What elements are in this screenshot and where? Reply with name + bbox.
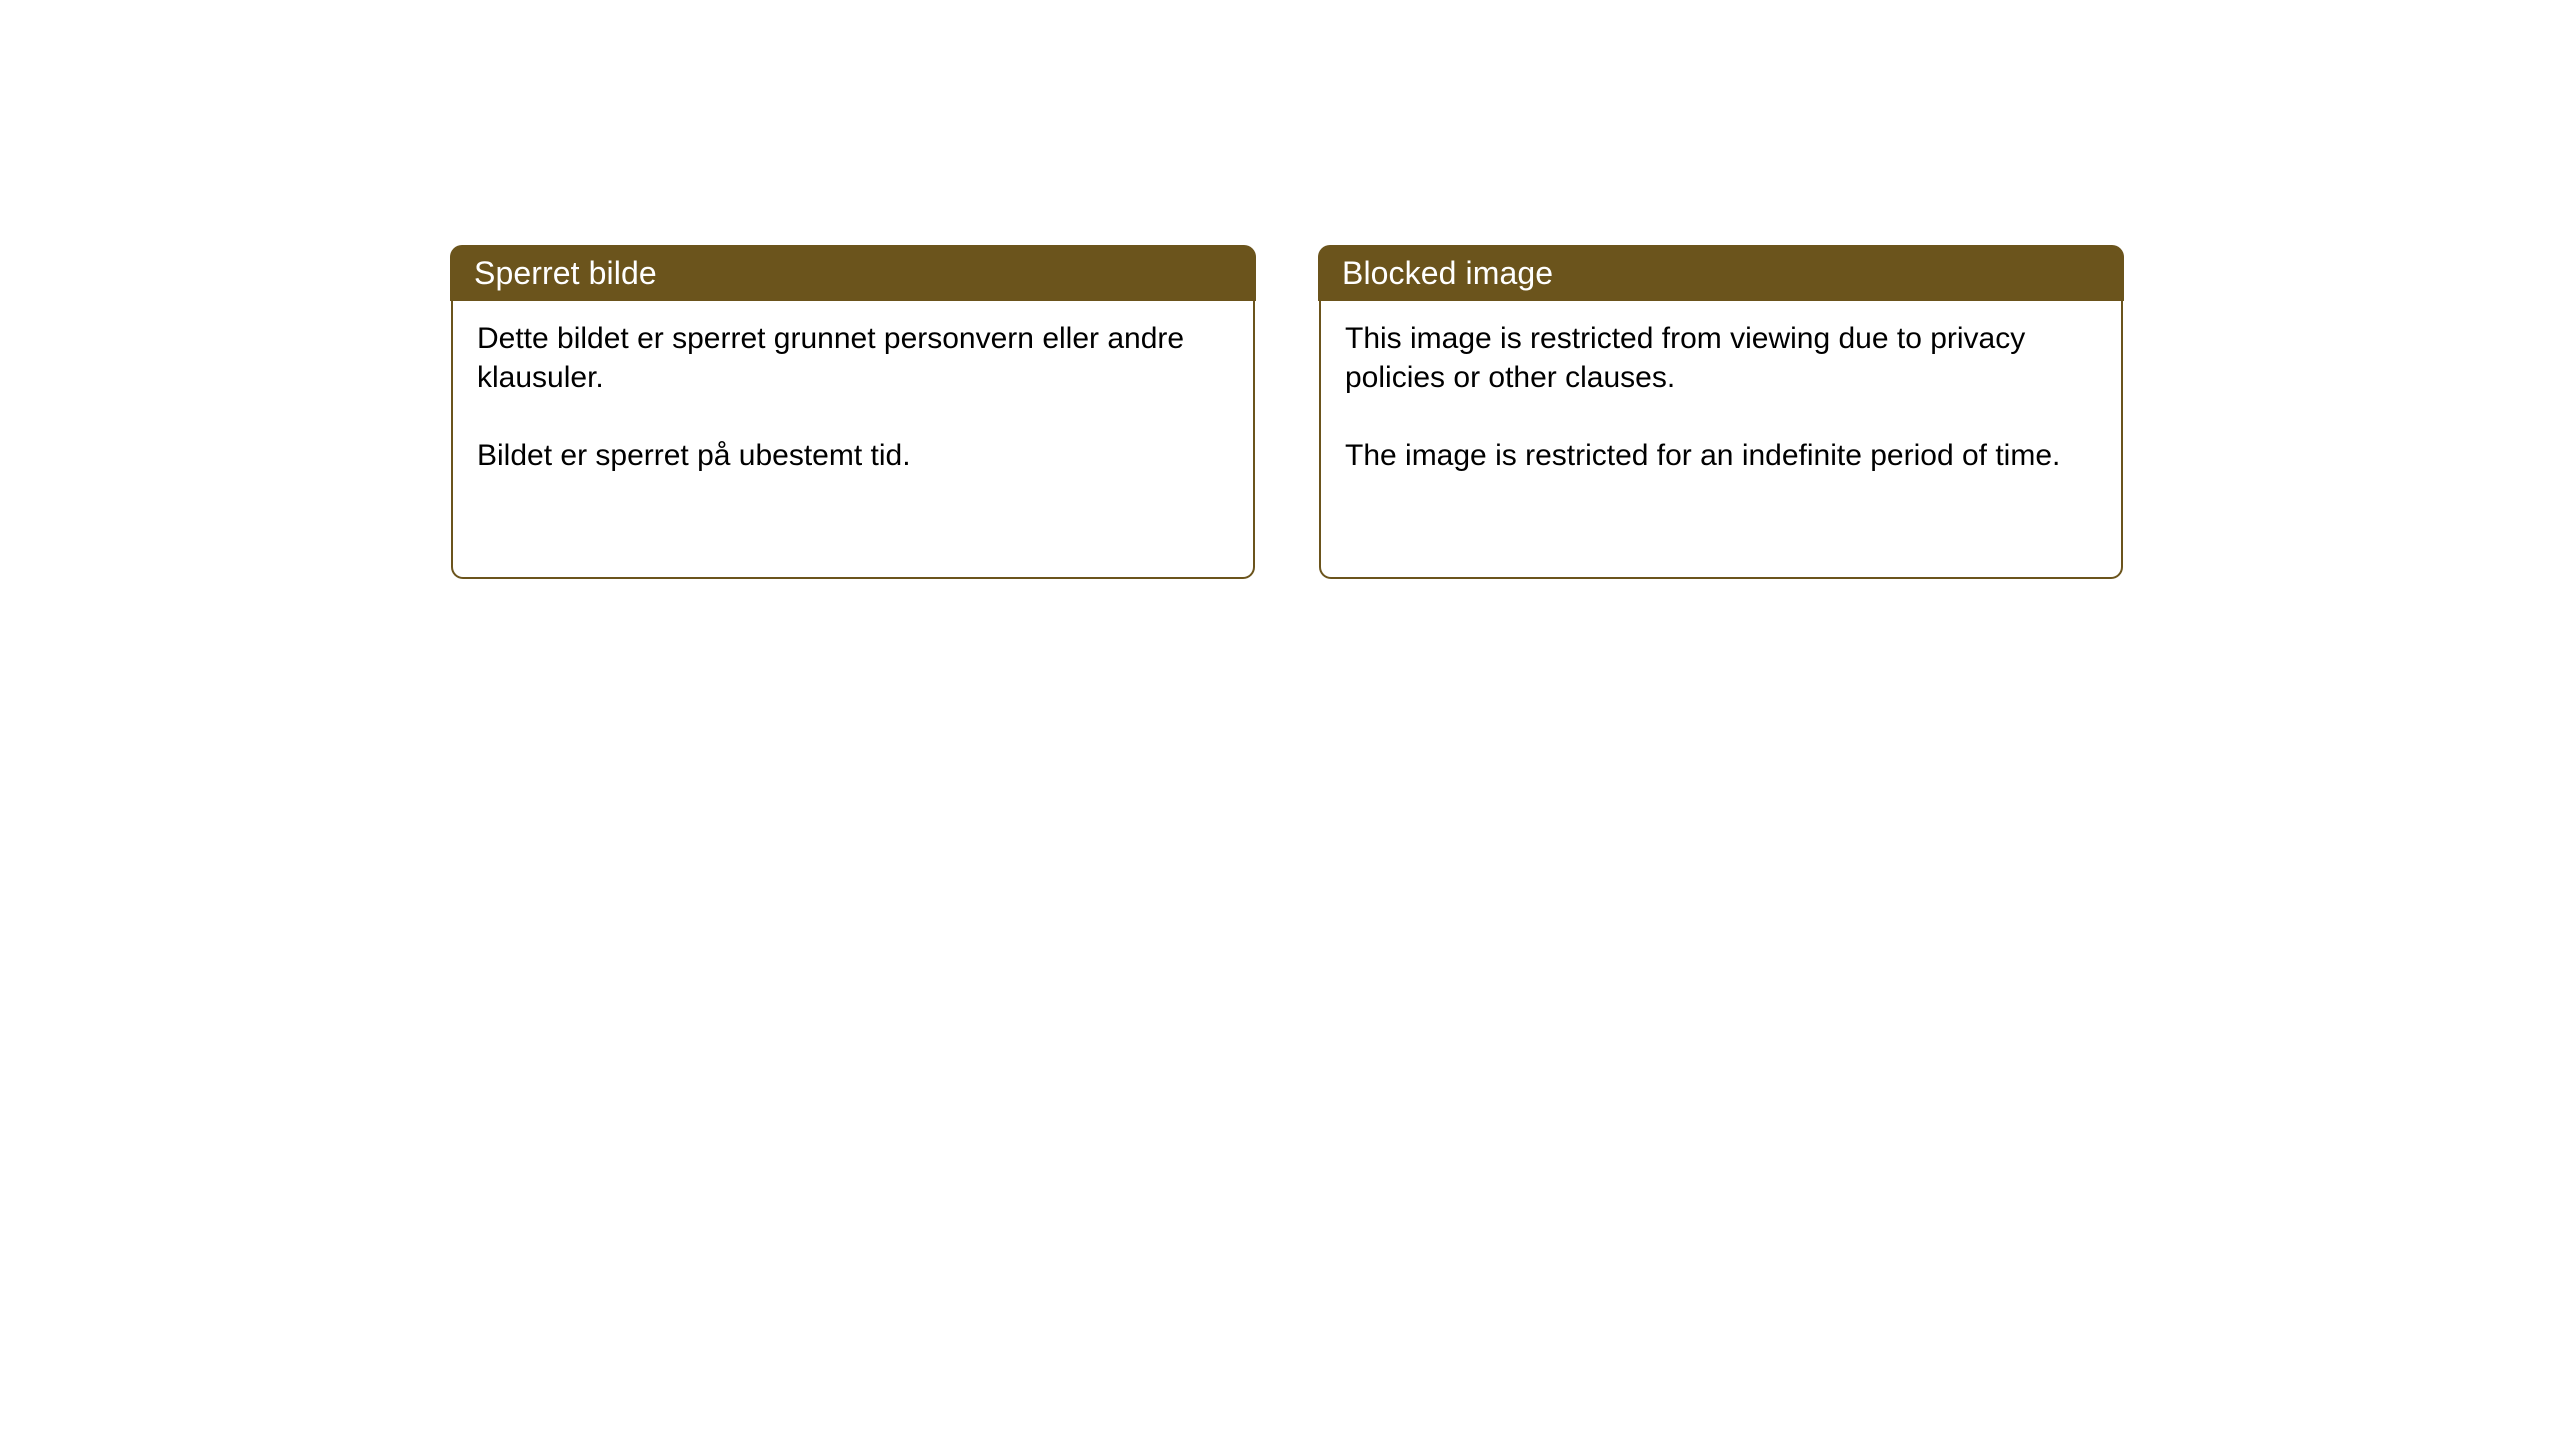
blocked-image-notice-norwegian: Sperret bilde Dette bildet er sperret gr…: [450, 245, 1256, 579]
blocked-image-notice-english: Blocked image This image is restricted f…: [1318, 245, 2124, 579]
panel-paragraph-duration-english: The image is restricted for an indefinit…: [1345, 436, 2101, 475]
panel-paragraph-reason-english: This image is restricted from viewing du…: [1345, 319, 2101, 397]
panel-paragraph-duration-norwegian: Bildet er sperret på ubestemt tid.: [477, 436, 1233, 475]
page-root: Sperret bilde Dette bildet er sperret gr…: [0, 0, 2560, 1440]
panel-body-norwegian: Dette bildet er sperret grunnet personve…: [451, 301, 1255, 579]
panel-body-english: This image is restricted from viewing du…: [1319, 301, 2123, 579]
panel-header-norwegian: Sperret bilde: [450, 245, 1256, 301]
panel-title-norwegian: Sperret bilde: [474, 257, 657, 289]
panel-paragraph-reason-norwegian: Dette bildet er sperret grunnet personve…: [477, 319, 1233, 397]
panel-title-english: Blocked image: [1342, 257, 1553, 289]
panel-header-english: Blocked image: [1318, 245, 2124, 301]
